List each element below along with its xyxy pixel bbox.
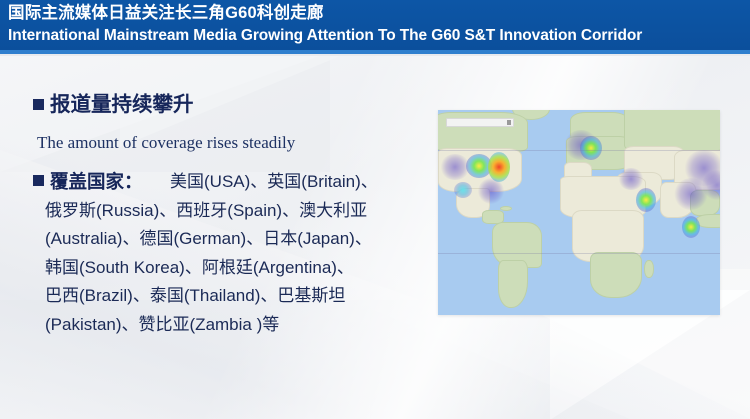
map-land-cuba bbox=[500, 206, 512, 211]
map-land-southeast-asia bbox=[690, 190, 720, 216]
map-search-input[interactable] bbox=[446, 118, 514, 127]
square-bullet-icon bbox=[33, 99, 44, 110]
map-gridline bbox=[438, 150, 720, 151]
slide-header-band: 国际主流媒体日益关注长三角G60科创走廊 International Mains… bbox=[0, 0, 750, 50]
map-land-usa bbox=[438, 148, 522, 192]
bullet-item-coverage-growth: 报道量持续攀升 bbox=[33, 92, 194, 118]
subtitle-coverage-growth: The amount of coverage rises steadily bbox=[37, 132, 295, 154]
country-line: 美国(USA)、英国(Britain)、 bbox=[170, 168, 440, 197]
map-land-madagascar bbox=[644, 260, 654, 278]
content-column: 报道量持续攀升 The amount of coverage rises ste… bbox=[0, 56, 440, 419]
world-heatmap-map[interactable] bbox=[438, 110, 720, 315]
heading-coverage-growth: 报道量持续攀升 bbox=[50, 92, 194, 118]
page-title-english: International Mainstream Media Growing A… bbox=[8, 25, 750, 47]
page-title-chinese: 国际主流媒体日益关注长三角G60科创走廊 bbox=[8, 2, 750, 25]
country-line: 俄罗斯(Russia)、西班牙(Spain)、澳大利亚 bbox=[45, 197, 440, 226]
heading-countries-label: 覆盖国家： bbox=[50, 168, 143, 196]
map-gridline bbox=[438, 253, 720, 254]
square-bullet-icon bbox=[33, 175, 44, 186]
country-line: (Pakistan)、赞比亚(Zambia )等 bbox=[45, 311, 440, 340]
slide-canvas: 国际主流媒体日益关注长三角G60科创走廊 International Mains… bbox=[0, 0, 750, 419]
countries-list: 美国(USA)、英国(Britain)、 俄罗斯(Russia)、西班牙(Spa… bbox=[170, 168, 440, 340]
country-line: 韩国(South Korea)、阿根廷(Argentina)、 bbox=[45, 254, 440, 283]
map-land-indonesia bbox=[696, 214, 720, 228]
country-line: 巴西(Brazil)、泰国(Thailand)、巴基斯坦 bbox=[45, 282, 440, 311]
country-line: (Australia)、德国(German)、日本(Japan)、 bbox=[45, 225, 440, 254]
map-land-southern-africa bbox=[590, 252, 642, 298]
